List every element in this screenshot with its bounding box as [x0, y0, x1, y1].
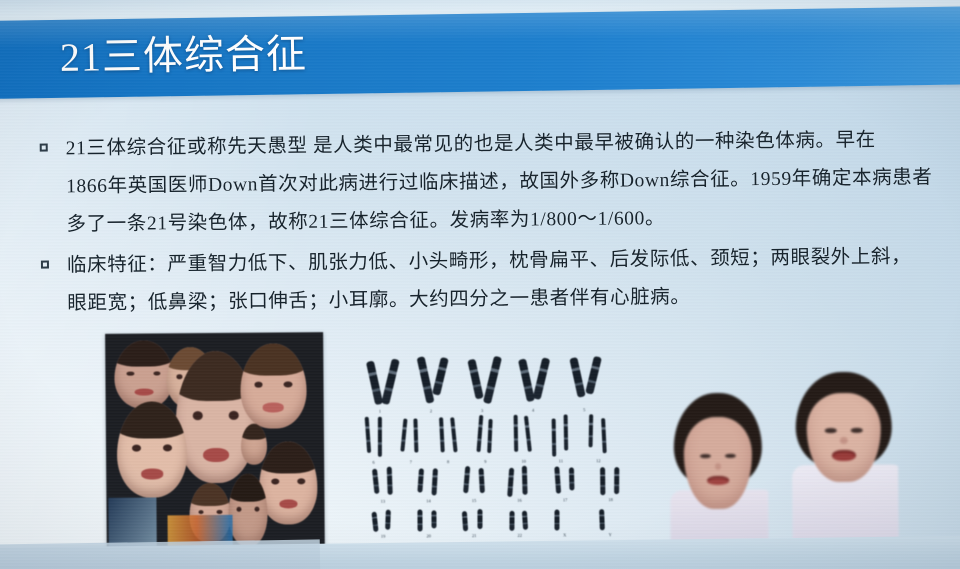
bullet-item-2: 临床特征：严重智力低下、肌张力低、小头畸形，枕骨扁平、后发际低、颈短；两眼裂外上… — [37, 238, 930, 323]
bullet-item-1: 21三体综合征或称先天愚型 是人类中最常见的也是人类中最早被确认的一种染色体病。… — [36, 121, 929, 244]
bullet-2-line-2: 眼距宽；低鼻梁；张口伸舌；小耳廓。大约四分之一患者伴有心脏病。 — [67, 276, 929, 323]
square-bullet-icon — [41, 261, 49, 269]
slide-content: 21三体综合征或称先天愚型 是人类中最常见的也是人类中最早被确认的一种染色体病。… — [0, 0, 960, 569]
bullet-1-line-3: 多了一条21号染色体，故称21三体综合征。发病率为1/800～1/600。 — [66, 197, 928, 244]
slide-photo: 21三体综合征 21三体综合征或称先天愚型 是人类中最常见的也是人类中最早被确认… — [0, 0, 960, 569]
bullet-2-text: 临床特征：严重智力低下、肌张力低、小头畸形，枕骨扁平、后发际低、颈短；两眼裂外上… — [67, 238, 930, 323]
bullet-1-text: 21三体综合征或称先天愚型 是人类中最常见的也是人类中最早被确认的一种染色体病。… — [66, 121, 929, 244]
square-bullet-icon — [40, 144, 48, 152]
bullet-list: 21三体综合征或称先天愚型 是人类中最常见的也是人类中最早被确认的一种染色体病。… — [36, 121, 930, 326]
